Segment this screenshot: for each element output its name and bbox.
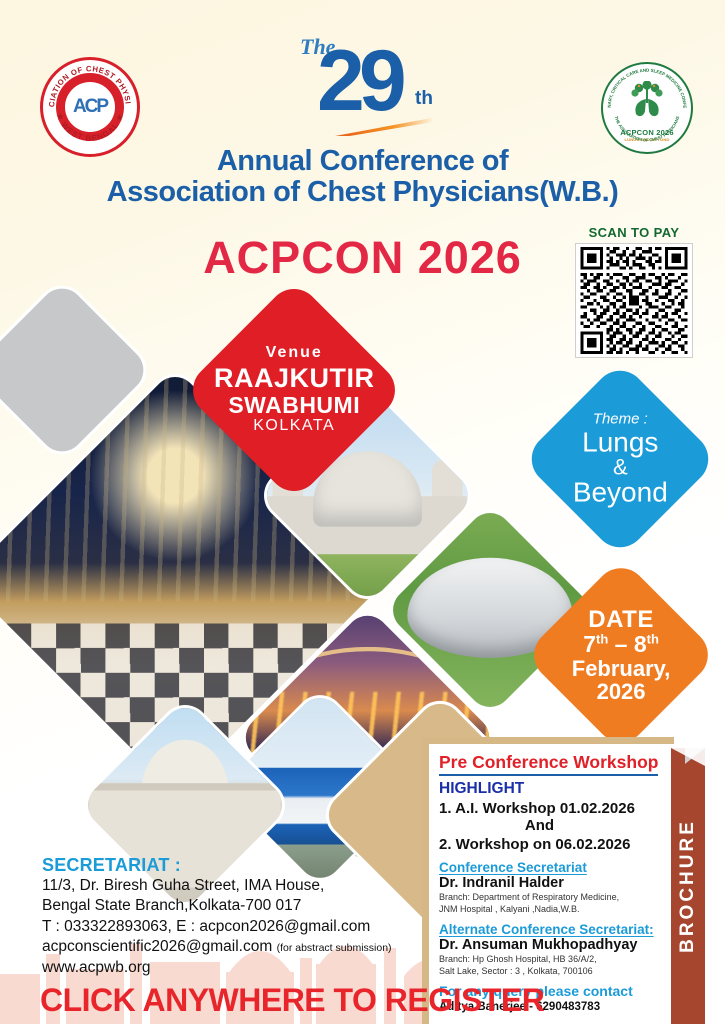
brochure-label: BROCHURE (677, 819, 699, 953)
theme-callout: Theme : Lungs & Beyond (521, 360, 719, 558)
page-title-line2: Association of Chest Physicians(W.B.) (0, 176, 725, 209)
conference-secretariat-heading: Conference Secretariat (439, 860, 668, 875)
svg-text:THE ASSOCIATION OF CHEST PHYSI: THE ASSOCIATION OF CHEST PHYSICIANS (614, 115, 681, 142)
qr-code-icon[interactable] (575, 243, 693, 358)
secretariat-abstract-email-row[interactable]: acpconscientific2026@gmail.com (for abst… (42, 937, 432, 957)
svg-text:PULMONARY, CRITICAL CARE AND S: PULMONARY, CRITICAL CARE AND SLEEP MEDIC… (603, 64, 687, 108)
secretariat-address-line1: 11/3, Dr. Biresh Guha Street, IMA House, (42, 876, 432, 896)
secretariat-abstract-note: (for abstract submission) (277, 942, 392, 954)
theme-line1: Lungs (573, 427, 668, 457)
conference-secretariat-name: Dr. Indranil Halder (439, 875, 668, 891)
pre-conference-workshop-panel: Pre Conference Workshop HIGHLIGHT 1. A.I… (422, 737, 674, 1024)
alternate-secretariat-branch-line1: Branch: Hp Ghosh Hospital, HB 36/A/2, (439, 953, 668, 965)
secretariat-abstract-email[interactable]: acpconscientific2026@gmail.com (42, 938, 272, 955)
theme-line2: Beyond (573, 477, 668, 507)
svg-text:ASSOCIATION OF CHEST PHYSICIAN: ASSOCIATION OF CHEST PHYSICIANS (43, 60, 133, 107)
secretariat-heading: SECRETARIAT : (42, 855, 432, 876)
workshop-title: Pre Conference Workshop (439, 752, 658, 776)
date-days: 7th – 8th (572, 632, 671, 656)
date-label: DATE (572, 607, 671, 632)
scan-to-pay-label: SCAN TO PAY (589, 225, 680, 240)
scan-to-pay-block[interactable]: SCAN TO PAY (572, 225, 696, 361)
brochure-tab[interactable]: BROCHURE (671, 748, 705, 1024)
workshop-conjunction: And (439, 817, 668, 834)
ordinal-suffix: th (415, 88, 433, 110)
date-day-to-suffix: th (647, 632, 659, 647)
venue-sub: SWABHUMI (214, 393, 375, 417)
theme-label: Theme : (573, 411, 668, 427)
acpcon-2026-emblem-logo: PULMONARY, CRITICAL CARE AND SLEEP MEDIC… (601, 62, 693, 154)
venue-label: Venue (214, 345, 375, 362)
date-month: February, (572, 657, 671, 680)
secretariat-address-line2: Bengal State Branch,Kolkata-700 017 (42, 896, 432, 916)
acp-logo-ring-text: ASSOCIATION OF CHEST PHYSICIANS ★ WEST B… (43, 60, 137, 154)
secretariat-block: SECRETARIAT : 11/3, Dr. Biresh Guha Stre… (42, 855, 432, 978)
date-day-from-suffix: th (596, 632, 608, 647)
ordinal-29th: The 29 th (295, 30, 455, 140)
workshop-item-1: 1. A.I. Workshop 01.02.2026 (439, 800, 668, 817)
date-day-from: 7 (583, 631, 596, 657)
conference-secretariat-branch-line2: JNM Hospital , Kalyani ,Nadia,W.B. (439, 903, 668, 915)
venue-city: KOLKATA (214, 418, 375, 435)
venue-name: RAAJKUTIR (214, 364, 375, 393)
theme-ampersand: & (573, 457, 668, 478)
date-dash: – (615, 631, 628, 657)
date-year: 2026 (572, 680, 671, 703)
conference-poster[interactable]: ASSOCIATION OF CHEST PHYSICIANS ★ WEST B… (0, 0, 725, 1024)
acp-west-bengal-logo: ASSOCIATION OF CHEST PHYSICIANS ★ WEST B… (40, 57, 140, 157)
conference-secretariat-branch-line1: Branch: Department of Respiratory Medici… (439, 891, 668, 903)
workshop-highlight-label: HIGHLIGHT (439, 780, 668, 798)
svg-text:★ WEST BENGAL ★: ★ WEST BENGAL ★ (55, 112, 125, 143)
acpcon-logo-ring-text: PULMONARY, CRITICAL CARE AND SLEEP MEDIC… (603, 64, 691, 152)
ordinal-number: 29 (317, 38, 401, 124)
secretariat-phone-email[interactable]: T : 033322893063, E : acpcon2026@gmail.c… (42, 917, 432, 937)
workshop-item-2: 2. Workshop on 06.02.2026 (439, 836, 668, 853)
alternate-secretariat-heading: Alternate Conference Secretariat: (439, 922, 668, 937)
register-cta[interactable]: CLICK ANYWHERE TO REGISTER (40, 982, 544, 1019)
alternate-secretariat-name: Dr. Ansuman Mukhopadhyay (439, 937, 668, 953)
page-title-line1: Annual Conference of (0, 145, 725, 178)
alternate-secretariat-branch-line2: Salt Lake, Sector : 3 , Kolkata, 700106 (439, 965, 668, 977)
secretariat-website[interactable]: www.acpwb.org (42, 958, 432, 978)
date-day-to: 8 (634, 631, 647, 657)
